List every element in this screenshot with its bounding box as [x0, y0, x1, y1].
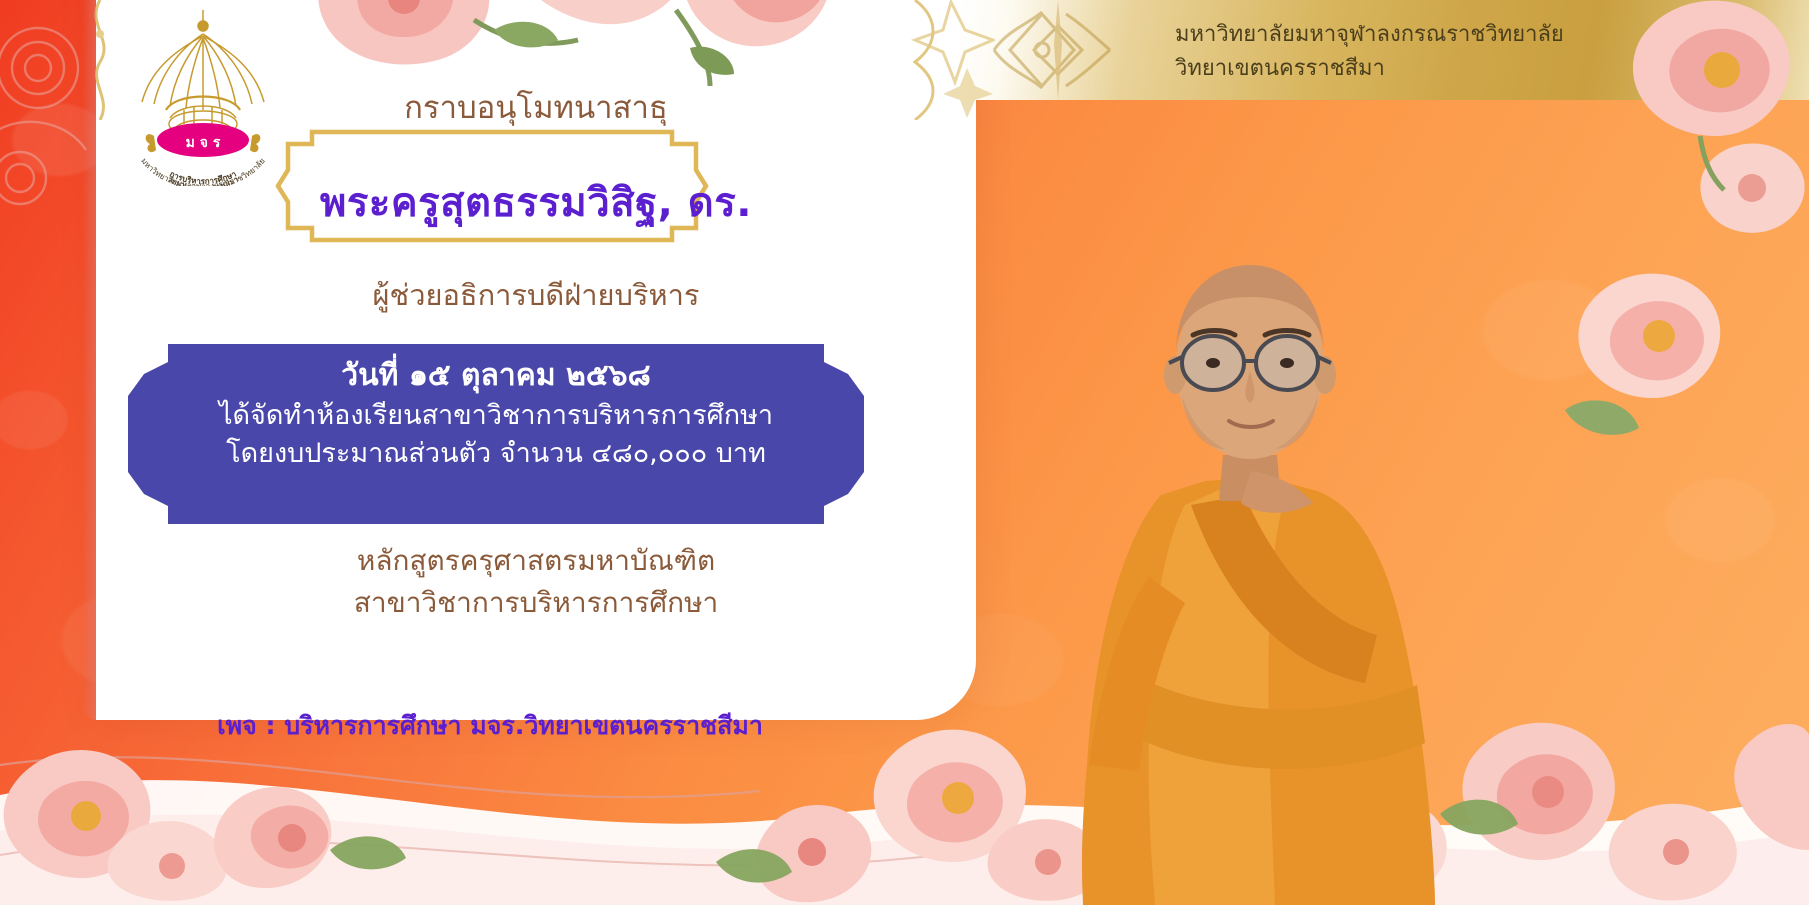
honoree-name: พระครูสุตธรรมวิสิฐ, ดร.: [96, 170, 976, 234]
greeting-text: กราบอนุโมทนาสาธุ: [96, 82, 976, 132]
emblem-center-label: ม จ ร: [186, 135, 221, 151]
thai-gold-diamond-motif-icon: [980, 0, 1150, 106]
plaque-date: วันที่ ๑๕ ตุลาคม ๒๕๖๘: [186, 356, 806, 397]
position-title: ผู้ช่วยอธิการบดีฝ่ายบริหาร: [96, 272, 976, 318]
footer-credit: เพจ : บริหารการศึกษา มจร.วิทยาเขตนครราชส…: [0, 706, 980, 746]
program-line-2: สาขาวิชาการบริหารการศึกษา: [96, 582, 976, 624]
program-name: หลักสูตรครุศาสตรมหาบัณฑิต สาขาวิชาการบริ…: [96, 540, 976, 624]
plaque-text: วันที่ ๑๕ ตุลาคม ๒๕๖๘ ได้จัดทำห้องเรียนส…: [116, 334, 876, 534]
detail-plaque: วันที่ ๑๕ ตุลาคม ๒๕๖๘ ได้จัดทำห้องเรียนส…: [116, 334, 876, 534]
plaque-body-line-1: ได้จัดทำห้องเรียนสาขาวิชาการบริหารการศึก…: [186, 397, 806, 435]
buddhist-monk-portrait: [1065, 205, 1455, 905]
program-line-1: หลักสูตรครุศาสตรมหาบัณฑิต: [96, 540, 976, 582]
greeting-poster: มหาวิทยาลัยมหาจุฬาลงกรณราชวิทยาลัย วิทยา…: [0, 0, 1809, 905]
plaque-body-line-2: โดยงบประมาณส่วนตัว จำนวน ๔๘๐,๐๐๐ บาท: [186, 435, 806, 473]
